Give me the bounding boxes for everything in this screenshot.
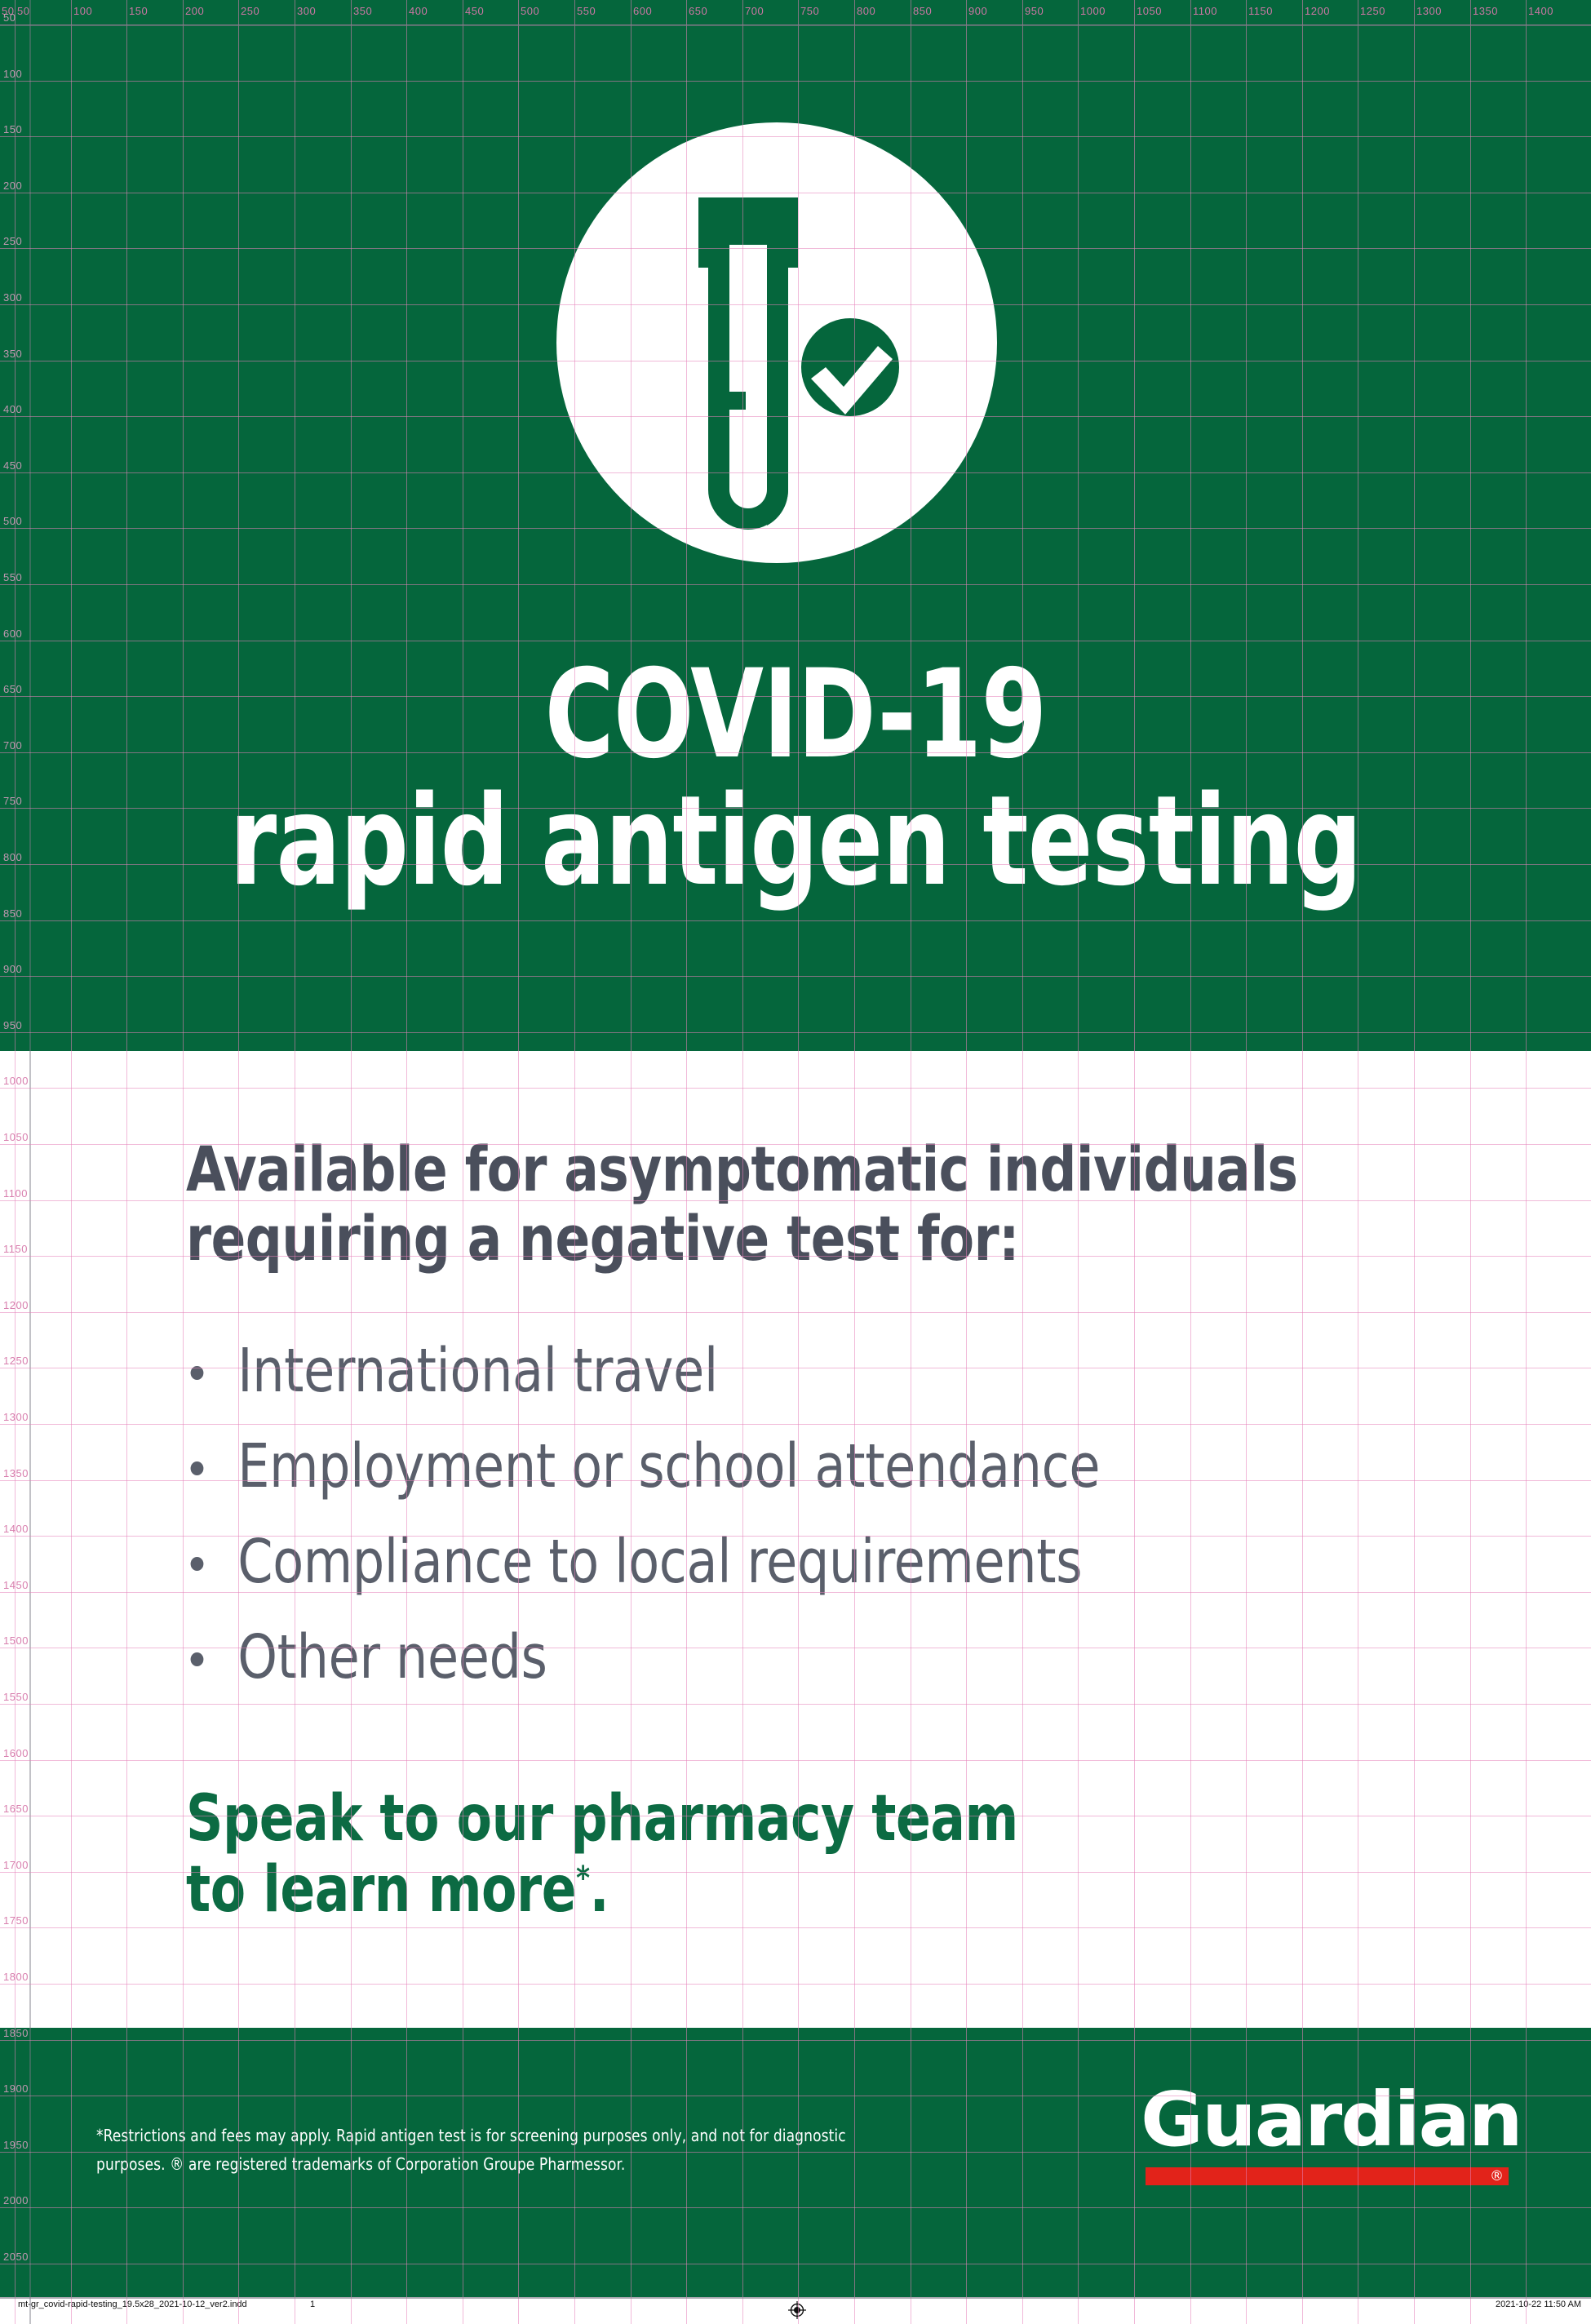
brand-red-rule: ® <box>1146 2167 1509 2185</box>
list-item: International travel <box>186 1324 1400 1419</box>
print-timestamp-label: 2021-10-22 11:50 AM <box>1496 2300 1581 2309</box>
list-item: Compliance to local requirements <box>186 1515 1400 1610</box>
hero-headline: COVID-19 rapid antigen testing <box>112 653 1480 904</box>
legal-line-2: purposes. ® are registered trademarks of… <box>96 2150 895 2179</box>
covid-rapid-test-vial-check-icon <box>556 122 997 563</box>
bullet-dot-icon <box>191 1557 204 1571</box>
print-page-number: 1 <box>310 2300 315 2309</box>
bullet-dot-icon <box>191 1461 204 1475</box>
eligibility-bullet-list: International travel Employment or schoo… <box>186 1324 1491 1705</box>
cta-asterisk: * <box>576 1860 589 1897</box>
print-filename-label: mt-gr_covid-rapid-testing_19.5x28_2021-1… <box>18 2300 247 2309</box>
cta-line-2: to learn more <box>186 1853 576 1927</box>
registration-target-icon <box>788 2301 806 2319</box>
headline-line-1: COVID-19 <box>545 644 1047 786</box>
cta-line-1: Speak to our pharmacy team <box>186 1784 1361 1855</box>
brand-wordmark: Guardian <box>1141 2082 1523 2158</box>
lede-paragraph: Available for asymptomatic individuals r… <box>186 1134 1387 1273</box>
cta-period: . <box>590 1853 609 1927</box>
list-item-label: Employment or school attendance <box>237 1431 1100 1501</box>
bullet-dot-icon <box>191 1652 204 1666</box>
list-item: Other needs <box>186 1610 1400 1705</box>
vial-check-glyph <box>556 122 997 563</box>
bullet-dot-icon <box>191 1366 204 1380</box>
guardian-logo: Guardian ® <box>1141 2082 1516 2185</box>
lede-line-1: Available for asymptomatic individuals <box>186 1134 1387 1204</box>
poster-proof-canvas: COVID-19 rapid antigen testing Available… <box>0 0 1591 2324</box>
legal-line-1: *Restrictions and fees may apply. Rapid … <box>96 2122 895 2150</box>
lede-line-2: requiring a negative test for: <box>186 1204 1387 1273</box>
registered-trademark-icon: ® <box>1490 2168 1504 2184</box>
list-item-label: Other needs <box>237 1622 547 1692</box>
list-item-label: International travel <box>237 1336 718 1406</box>
cta-line-2-wrap: to learn more*. <box>186 1855 1361 1926</box>
legal-disclaimer: *Restrictions and fees may apply. Rapid … <box>96 2122 895 2179</box>
list-item: Employment or school attendance <box>186 1419 1400 1515</box>
body-content: Available for asymptomatic individuals r… <box>186 1134 1491 1927</box>
headline-line-2: rapid antigen testing <box>112 778 1480 904</box>
call-to-action: Speak to our pharmacy team to learn more… <box>186 1784 1361 1927</box>
list-item-label: Compliance to local requirements <box>237 1527 1082 1597</box>
